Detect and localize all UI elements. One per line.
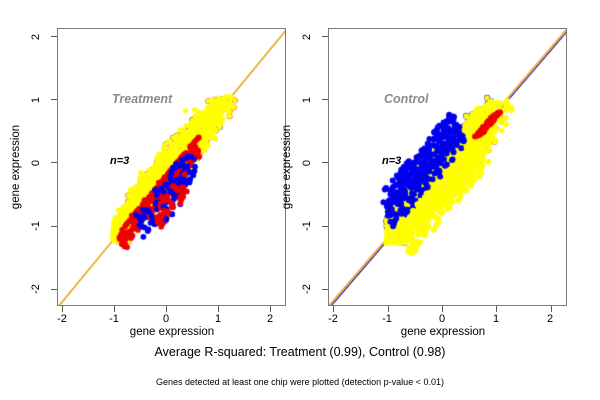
xtick-mark bbox=[388, 306, 389, 312]
xtick-label: 2 bbox=[535, 313, 565, 325]
x-axis-title-treatment: gene expression bbox=[97, 326, 247, 338]
xtick-label: 0 bbox=[427, 313, 457, 325]
ytick-label: -1 bbox=[30, 216, 42, 236]
ytick-label: 0 bbox=[301, 153, 313, 173]
figure-root: Treatment n=3 -2 -1 0 1 2 gene expressio… bbox=[0, 0, 600, 400]
ytick-mark bbox=[322, 226, 328, 227]
ytick-label: -2 bbox=[30, 279, 42, 299]
xtick-mark bbox=[442, 306, 443, 312]
ytick-label: 2 bbox=[301, 27, 313, 47]
caption-average-r-squared: Average R-squared: Treatment (0.99), Con… bbox=[0, 345, 600, 359]
scatter-canvas-control bbox=[329, 29, 567, 306]
ytick-mark bbox=[51, 99, 57, 100]
ytick-mark bbox=[51, 226, 57, 227]
ytick-mark bbox=[322, 36, 328, 37]
xtick-mark bbox=[114, 306, 115, 312]
xtick-mark bbox=[62, 306, 63, 312]
ytick-mark bbox=[322, 162, 328, 163]
ytick-mark bbox=[51, 36, 57, 37]
xtick-label: 2 bbox=[255, 313, 285, 325]
ytick-label: 2 bbox=[30, 27, 42, 47]
xtick-label: -1 bbox=[372, 313, 402, 325]
y-axis-title-control: gene expression bbox=[281, 122, 293, 212]
ytick-label: 1 bbox=[301, 90, 313, 110]
xtick-mark bbox=[333, 306, 334, 312]
xtick-label: 1 bbox=[481, 313, 511, 325]
xtick-mark bbox=[551, 306, 552, 312]
ytick-label: -2 bbox=[301, 279, 313, 299]
sample-size-label-control: n=3 bbox=[382, 155, 401, 167]
ytick-label: 0 bbox=[30, 153, 42, 173]
plot-area-control[interactable] bbox=[328, 28, 567, 306]
ytick-mark bbox=[322, 289, 328, 290]
scatter-canvas-treatment bbox=[58, 29, 286, 306]
panel-treatment: Treatment n=3 -2 -1 0 1 2 gene expressio… bbox=[0, 0, 300, 340]
xtick-label: 1 bbox=[203, 313, 233, 325]
panel-control: Control n=3 -2 -1 0 1 2 gene expression … bbox=[300, 0, 600, 340]
ytick-label: -1 bbox=[301, 216, 313, 236]
xtick-label: -2 bbox=[318, 313, 348, 325]
panel-title-control: Control bbox=[384, 92, 428, 106]
ytick-mark bbox=[322, 99, 328, 100]
x-axis-title-control: gene expression bbox=[368, 326, 518, 338]
y-axis-title-treatment: gene expression bbox=[10, 122, 22, 212]
sample-size-label-treatment: n=3 bbox=[110, 155, 129, 167]
xtick-label: 0 bbox=[151, 313, 181, 325]
ytick-mark bbox=[51, 162, 57, 163]
ytick-mark bbox=[51, 289, 57, 290]
xtick-label: -1 bbox=[99, 313, 129, 325]
xtick-mark bbox=[166, 306, 167, 312]
xtick-mark bbox=[270, 306, 271, 312]
xtick-mark bbox=[218, 306, 219, 312]
ytick-label: 1 bbox=[30, 90, 42, 110]
xtick-mark bbox=[496, 306, 497, 312]
plot-area-treatment[interactable] bbox=[57, 28, 286, 306]
xtick-label: -2 bbox=[47, 313, 77, 325]
caption-detection-note: Genes detected at least one chip were pl… bbox=[0, 377, 600, 387]
panel-title-treatment: Treatment bbox=[112, 92, 172, 106]
